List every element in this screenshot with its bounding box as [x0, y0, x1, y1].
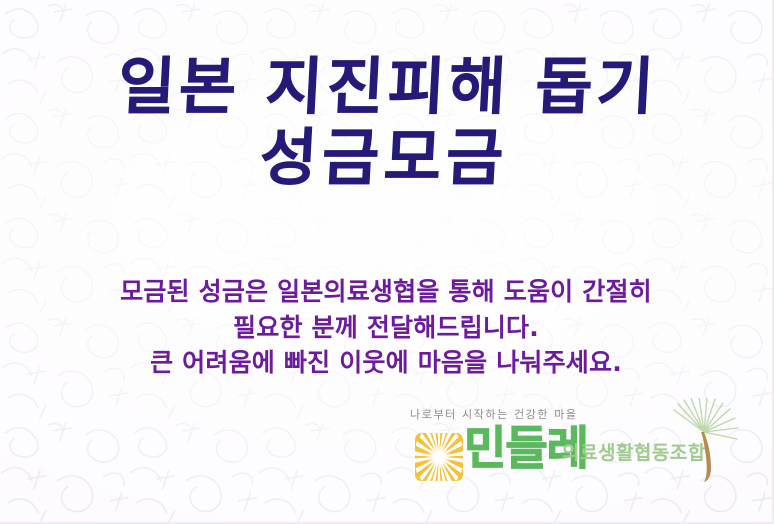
- poster-headline: 일본 지진피해 돕기 성금모금: [0, 52, 774, 193]
- body-line-3: 큰 어려움에 빠진 이웃에 마음을 나눠주세요.: [0, 345, 772, 381]
- body-line-1: 모금된 성금은 일본의료생협을 통해 도움이 간절히: [0, 274, 772, 310]
- poster-body-text: 모금된 성금은 일본의료생협을 통해 도움이 간절히 필요한 분께 전달해드립니…: [0, 274, 772, 381]
- sunburst-icon: [414, 432, 464, 482]
- poster-canvas: 일본 지진피해 돕기 성금모금 모금된 성금은 일본의료생협을 통해 도움이 간…: [0, 0, 774, 524]
- organization-logo: 나로부터 시작하는 건강한 마을: [402, 402, 742, 497]
- body-line-2: 필요한 분께 전달해드립니다.: [0, 310, 772, 346]
- headline-line-2: 성금모금: [0, 123, 772, 192]
- headline-line-1: 일본 지진피해 돕기: [0, 52, 774, 121]
- dandelion-seed-icon: [664, 398, 742, 484]
- logo-tagline: 나로부터 시작하는 건강한 마을: [410, 406, 578, 422]
